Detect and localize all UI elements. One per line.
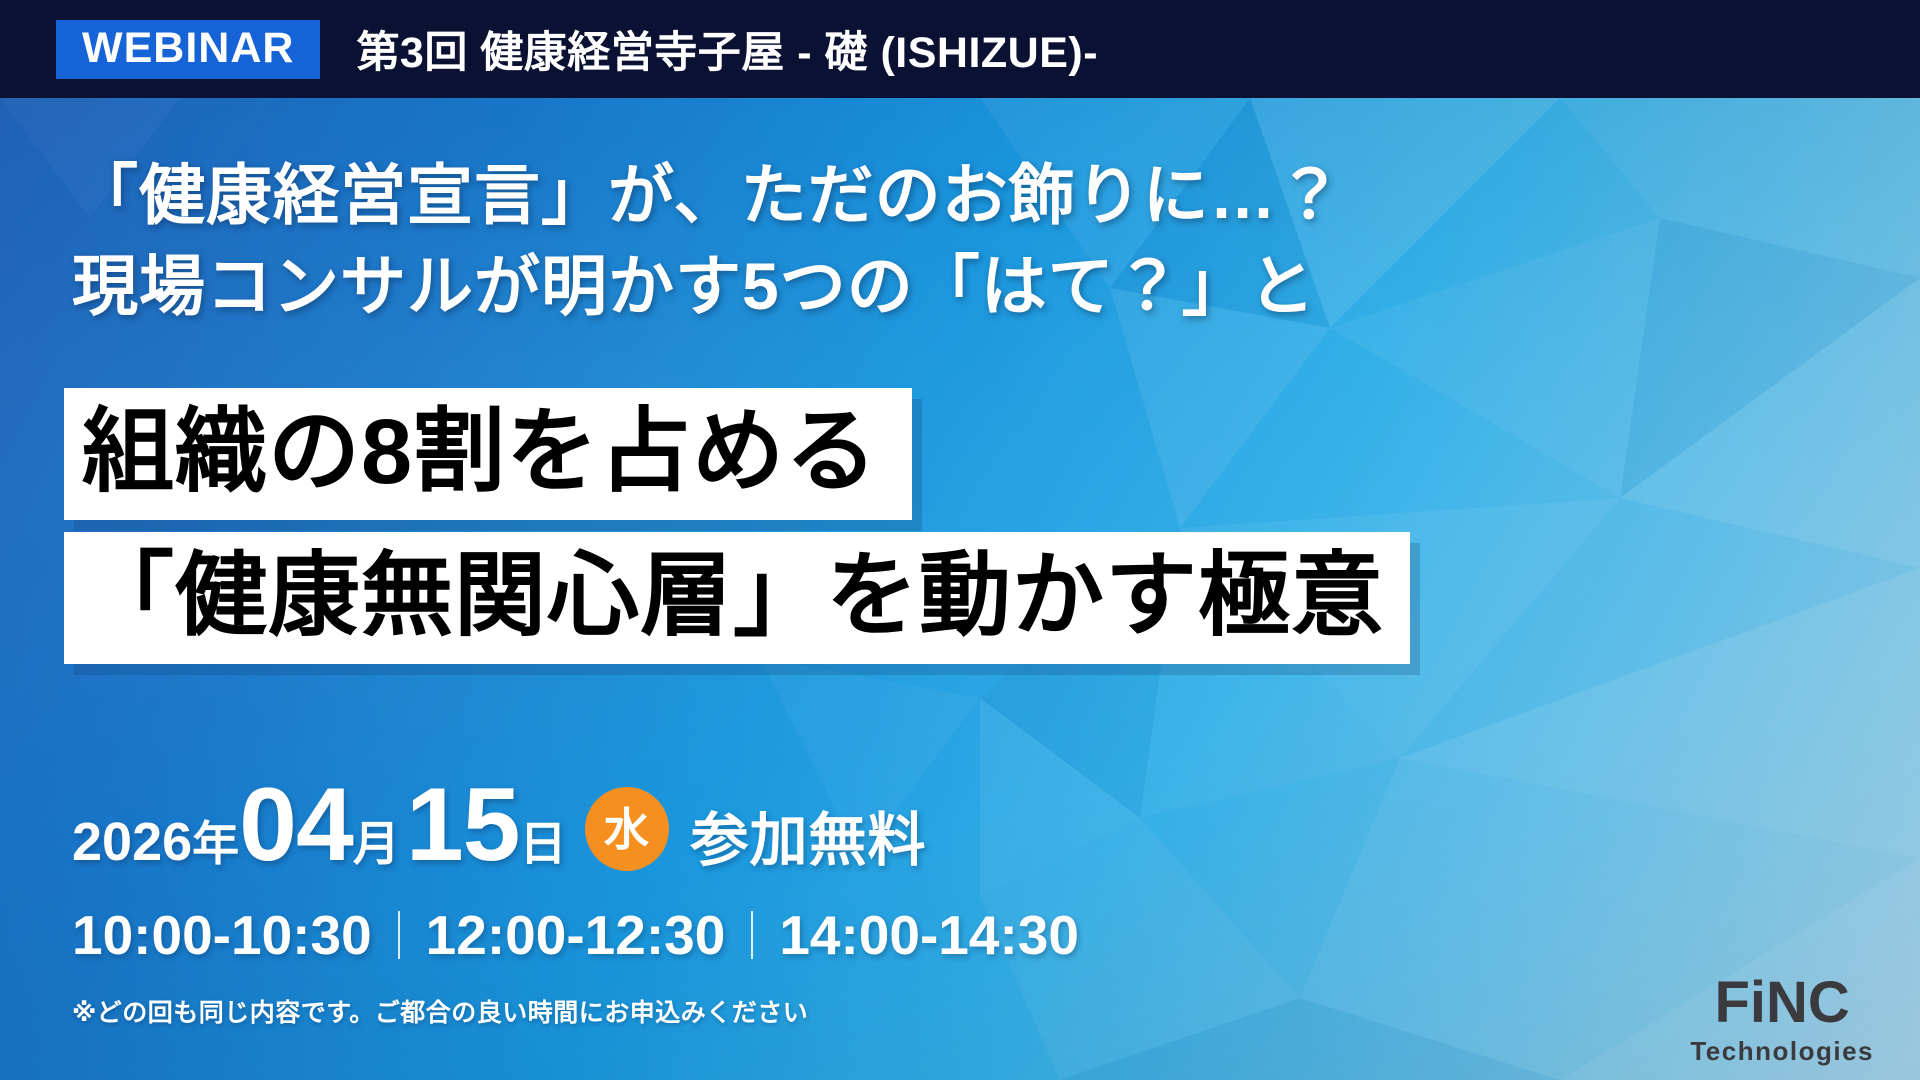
event-year: 2026 — [72, 815, 192, 869]
event-day-of-week-badge: 水 — [585, 787, 669, 871]
event-price-label: 参加無料 — [691, 812, 927, 870]
highlight-line-1: 組織の8割を占める — [64, 388, 912, 520]
event-times-line: 10:00-10:30 12:00-12:30 14:00-14:30 — [72, 903, 1079, 967]
event-year-unit: 年 — [192, 820, 239, 867]
header-title: 第3回 健康経営寺子屋 - 礎 (ISHIZUE)- — [356, 18, 1098, 80]
webinar-banner: WEBINAR 第3回 健康経営寺子屋 - 礎 (ISHIZUE)- — [0, 0, 1920, 1080]
lead-headline: 「健康経営宣言」が、ただのお飾りに…？ 現場コンサルが明かす5つの「はて？」と — [72, 150, 1344, 332]
header-bar: WEBINAR 第3回 健康経営寺子屋 - 礎 (ISHIZUE)- — [0, 0, 1920, 98]
highlight-line-2: 「健康無関心層」を動かす極意 — [64, 532, 1410, 664]
time-divider-1 — [398, 911, 400, 959]
highlight-headline: 組織の8割を占める 「健康無関心層」を動かす極意 — [0, 388, 1920, 664]
hero-section: 「健康経営宣言」が、ただのお飾りに…？ 現場コンサルが明かす5つの「はて？」と … — [0, 98, 1920, 1080]
event-month: 04 — [239, 773, 353, 877]
event-time-slot-2: 12:00-12:30 — [426, 903, 726, 967]
finc-logo: FiNC Technologies — [1690, 974, 1874, 1064]
webinar-badge: WEBINAR — [56, 20, 320, 79]
event-time-slot-3: 14:00-14:30 — [779, 903, 1079, 967]
time-divider-2 — [751, 911, 753, 959]
event-time-slot-1: 10:00-10:30 — [72, 903, 372, 967]
event-day: 15 — [406, 773, 520, 877]
event-note: ※どの回も同じ内容です。ご都合の良い時間にお申込みください — [72, 993, 1079, 1029]
logo-subtitle: Technologies — [1690, 1038, 1874, 1064]
lead-line-1: 「健康経営宣言」が、ただのお飾りに…？ — [72, 150, 1344, 241]
event-date-line: 2026 年 04 月 15 日 水 参加無料 — [72, 773, 1079, 877]
lead-line-2: 現場コンサルが明かす5つの「はて？」と — [72, 241, 1344, 332]
event-month-unit: 月 — [353, 820, 400, 867]
event-details: 2026 年 04 月 15 日 水 参加無料 10:00-10:30 12:0… — [72, 773, 1079, 1029]
logo-wordmark: FiNC — [1690, 974, 1874, 1032]
event-day-unit: 日 — [520, 820, 567, 867]
